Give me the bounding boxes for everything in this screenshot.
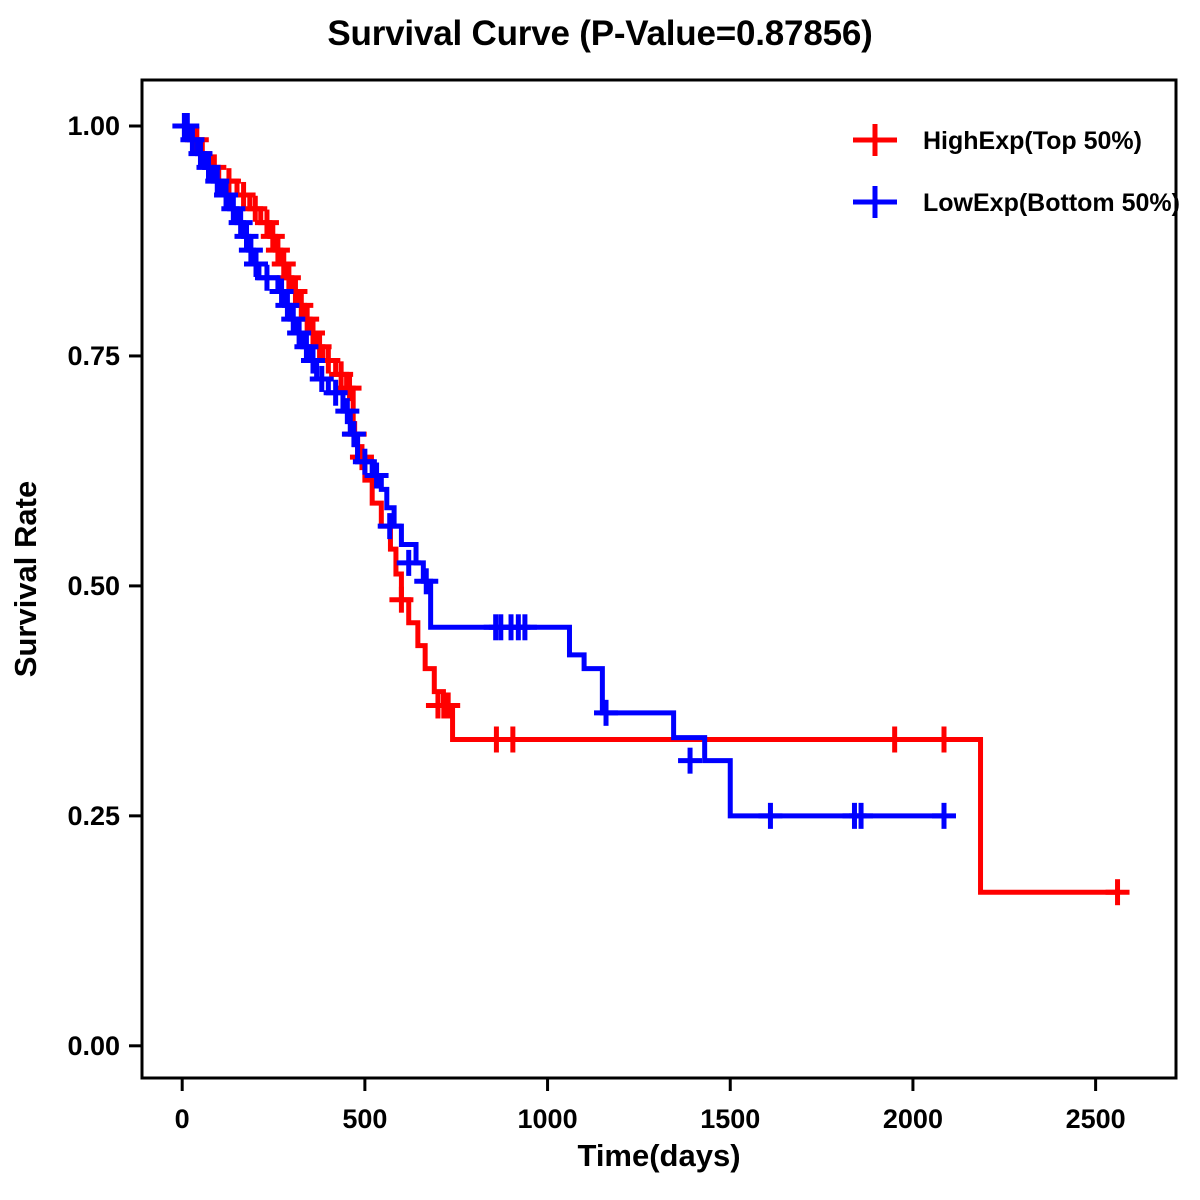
y-tick-label: 1.00 xyxy=(67,111,120,141)
x-tick-label: 0 xyxy=(175,1104,190,1134)
km-curve-highexp xyxy=(182,126,1117,892)
plot-frame xyxy=(142,80,1176,1078)
x-axis-label: Time(days) xyxy=(577,1138,740,1173)
y-axis-label: Survival Rate xyxy=(8,481,43,677)
x-tick-label: 2500 xyxy=(1066,1104,1126,1134)
x-tick-label: 2000 xyxy=(883,1104,943,1134)
x-tick-label: 1000 xyxy=(518,1104,578,1134)
legend-item-label: HighExp(Top 50%) xyxy=(923,127,1142,155)
y-tick-label: 0.25 xyxy=(67,801,120,831)
y-tick-label: 0.75 xyxy=(67,341,120,371)
x-tick-label: 500 xyxy=(342,1104,387,1134)
censor-marks-lowexp xyxy=(172,113,956,829)
legend: HighExp(Top 50%)LowExp(Bottom 50%) xyxy=(853,124,1180,218)
y-tick-label: 0.50 xyxy=(67,571,120,601)
chart-page: Survival Curve (P-Value=0.87856) 0500100… xyxy=(0,0,1200,1200)
survival-chart: 050010001500200025000.000.250.500.751.00… xyxy=(0,0,1200,1200)
x-tick-label: 1500 xyxy=(700,1104,760,1134)
legend-item-label: LowExp(Bottom 50%) xyxy=(923,189,1180,217)
censor-marks-highexp xyxy=(175,113,1130,905)
km-curve-lowexp xyxy=(182,126,944,816)
y-tick-label: 0.00 xyxy=(67,1031,120,1061)
